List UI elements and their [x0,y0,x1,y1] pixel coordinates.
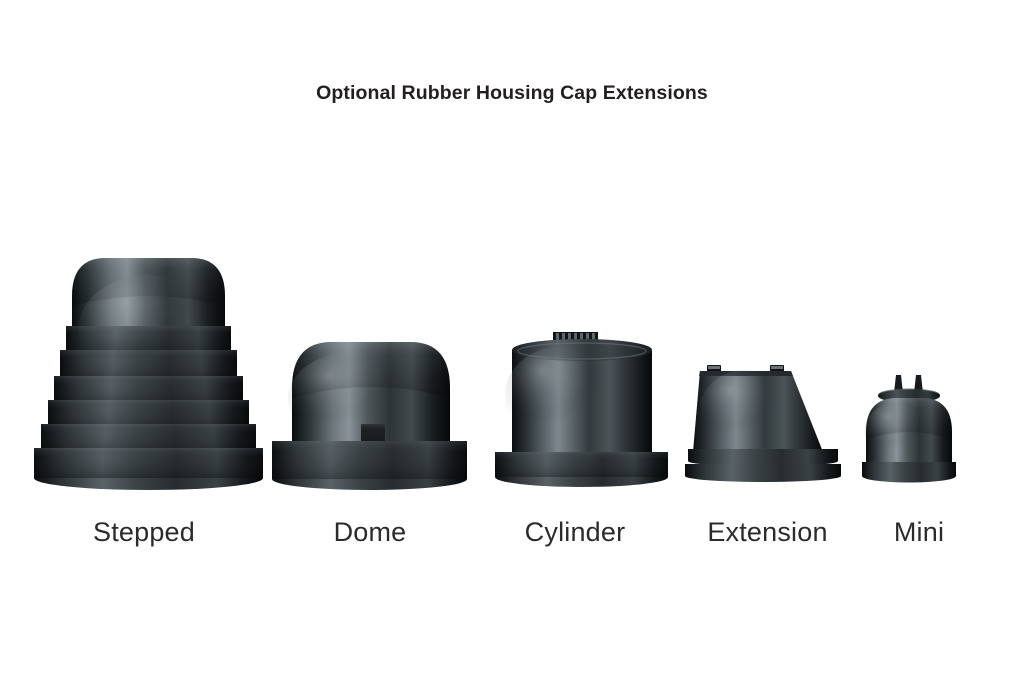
product-label-cylinder: Cylinder [480,517,670,548]
product-dome [272,342,467,490]
product-label-stepped: Stepped [14,517,274,548]
stepped-ring-shade [48,400,249,428]
dome-gloss [288,353,412,443]
mini-base-edge [862,470,956,483]
product-image-canvas: Optional Rubber Housing Cap Extensions [0,0,1024,683]
product-label-mini: Mini [858,517,980,548]
stepped-ring-shade [34,448,263,478]
stepped-ring-shade [41,424,256,452]
cylinder-base-shade [495,452,668,477]
cylinder-gloss [505,347,615,443]
product-cylinder [495,332,668,487]
dome-base-shade [272,441,467,479]
stepped-gloss [78,275,218,385]
product-mini [862,375,956,483]
product-label-dome: Dome [255,517,485,548]
product-label-extension: Extension [675,517,860,548]
product-lineup [0,0,1024,683]
extension-top-nub-highlight [771,366,783,369]
mini-gloss [864,402,932,462]
extension-base-edge [685,470,841,482]
extension-top-nub-highlight [708,366,720,369]
product-stepped [34,258,263,490]
product-extension [685,365,841,482]
extension-gloss [700,370,790,450]
